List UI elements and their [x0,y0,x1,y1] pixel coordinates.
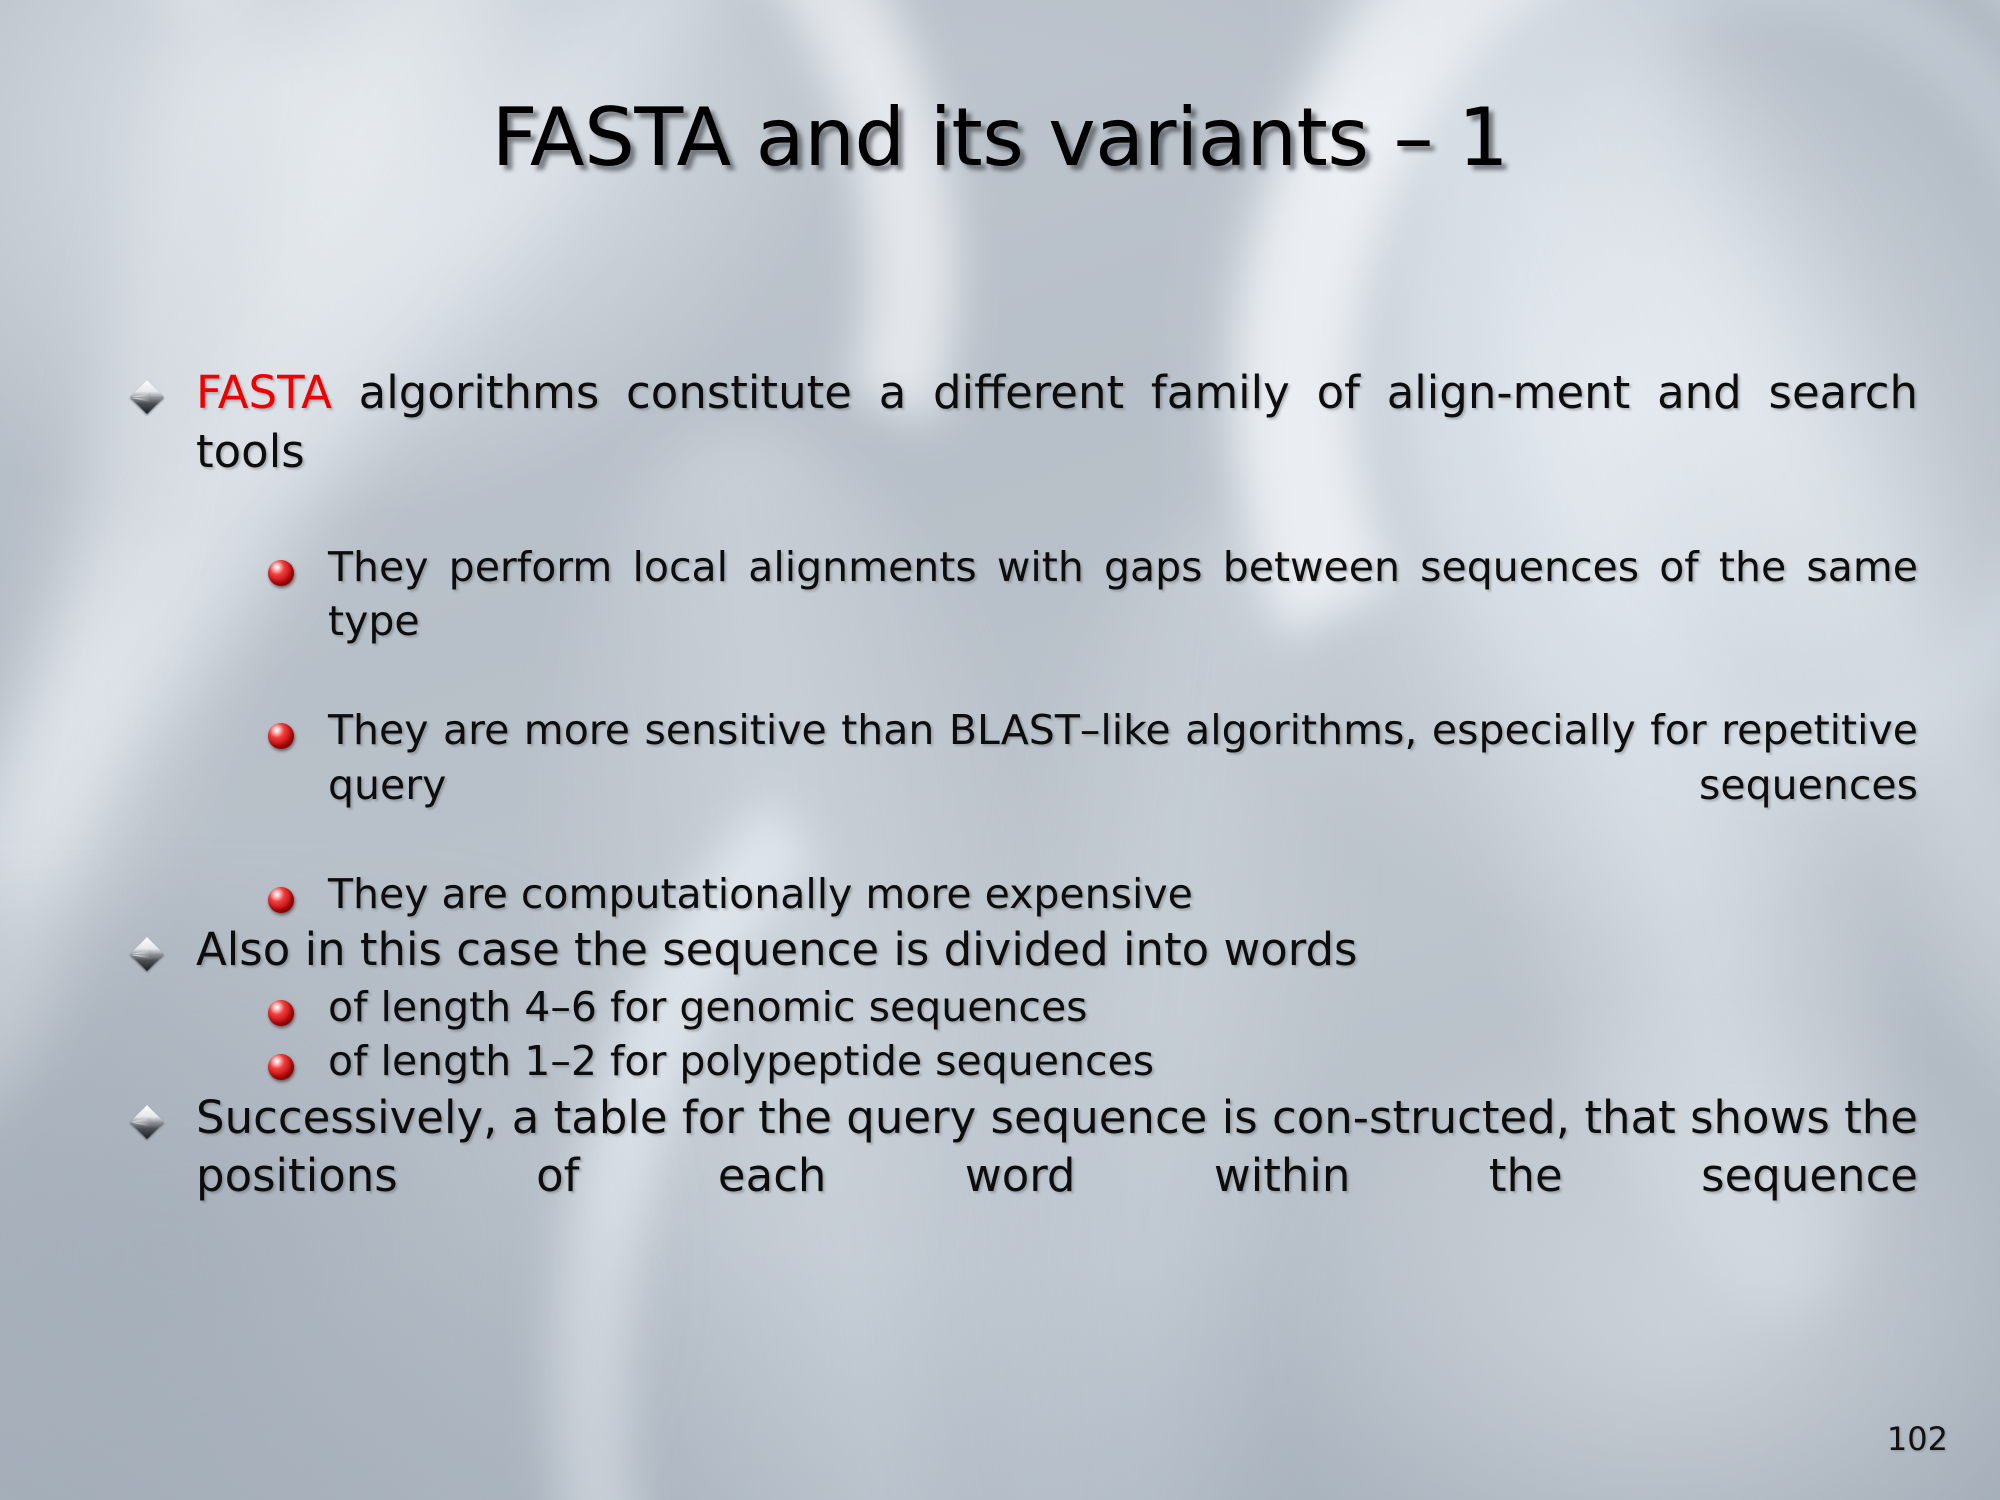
bullet-item-level2: They perform local alignments with gaps … [118,540,1918,704]
bullet-text-rest: algorithms constitute a different family… [196,366,1918,478]
bullet-text: Successively, a table for the query sequ… [196,1089,1918,1265]
bullet-item-level2: of length 4–6 for genomic sequences [118,980,1918,1035]
highlight-fasta: FASTA [196,366,332,419]
bullet-text: They are computationally more expensive [328,867,1918,922]
bullet-text: of length 4–6 for genomic sequences [328,980,1918,1035]
bullet-item-level2: of length 1–2 for polypeptide sequences [118,1034,1918,1089]
bullet-text: FASTA algorithms constitute a different … [196,364,1918,540]
red-sphere-bullet-icon [268,723,294,749]
red-sphere-bullet-icon [268,1000,294,1026]
bullet-text: They are more sensitive than BLAST–like … [328,703,1918,867]
red-sphere-bullet-icon [268,887,294,913]
slide-body-content: FASTA algorithms constitute a different … [118,364,1918,1264]
slide-title: FASTA and its variants – 1 [0,96,2000,180]
diamond-arrow-bullet-icon [130,1105,164,1139]
bullet-text: of length 1–2 for polypeptide sequences [328,1034,1918,1089]
bullet-item-level1: Also in this case the sequence is divide… [118,921,1918,980]
red-sphere-bullet-icon [268,560,294,586]
diamond-arrow-bullet-icon [130,380,164,414]
red-sphere-bullet-icon [268,1054,294,1080]
bullet-item-level2: They are more sensitive than BLAST–like … [118,703,1918,867]
bullet-item-level1: FASTA algorithms constitute a different … [118,364,1918,540]
bullet-text: Also in this case the sequence is divide… [196,921,1918,980]
diamond-arrow-bullet-icon [130,937,164,971]
bullet-text: They perform local alignments with gaps … [328,540,1918,704]
slide-canvas: FASTA and its variants – 1 FASTA algorit… [0,0,2000,1500]
slide-page-number: 102 [1887,1420,1948,1458]
bullet-item-level1: Successively, a table for the query sequ… [118,1089,1918,1265]
bullet-item-level2: They are computationally more expensive [118,867,1918,922]
